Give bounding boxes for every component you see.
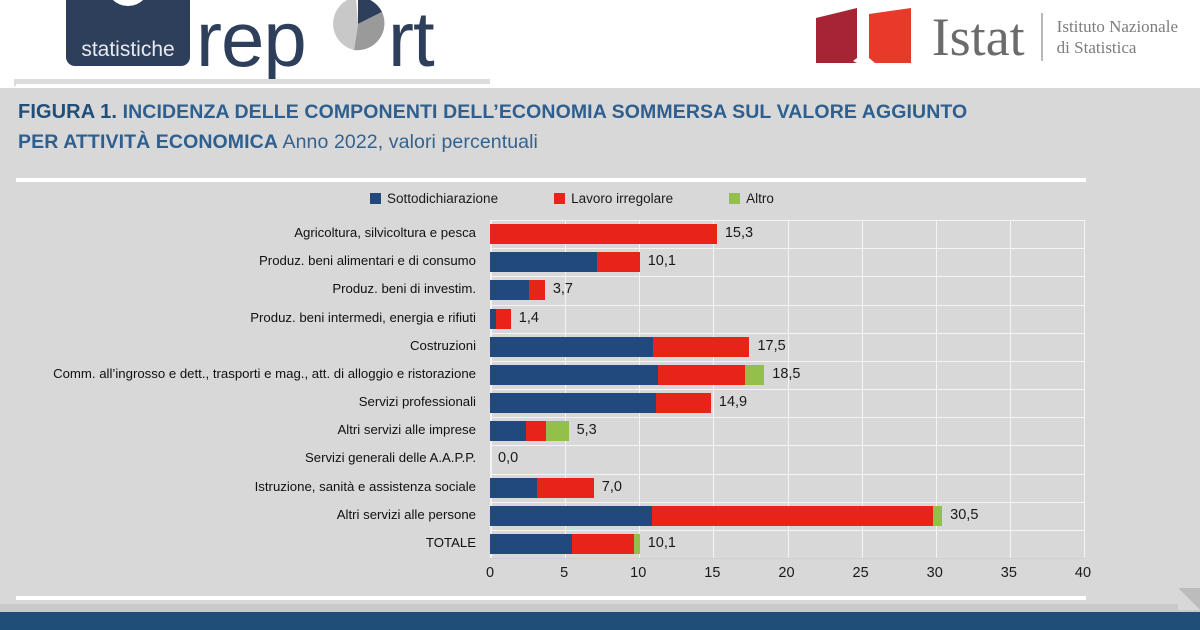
report-page: statistiche rep rt Istat [0, 0, 1200, 630]
x-tick-label: 30 [927, 565, 943, 581]
bar-segment[interactable] [490, 506, 652, 526]
bar-series-group: 15,310,13,71,417,518,514,95,30,07,030,51… [490, 220, 1200, 558]
category-label: Produz. beni di investim. [0, 281, 483, 296]
legend-label: Altro [746, 191, 774, 206]
footer-gap [0, 604, 1200, 612]
x-axis-ticks: 0510152025303540 [490, 559, 1090, 585]
x-tick-label: 5 [560, 565, 568, 581]
bar-value-label: 14,9 [719, 394, 747, 410]
bar-value-label: 1,4 [519, 310, 539, 326]
chart-legend: SottodichiarazioneLavoro irregolareAltro [370, 191, 774, 206]
istat-divider [1041, 13, 1043, 61]
bar-segment[interactable] [490, 280, 529, 300]
legend-item-0[interactable]: Sottodichiarazione [370, 191, 498, 206]
bar-segment[interactable] [597, 252, 640, 272]
category-label: Servizi professionali [0, 394, 483, 409]
bar-segment[interactable] [490, 337, 653, 357]
bar-value-label: 10,1 [648, 253, 676, 269]
bar-segment[interactable] [490, 534, 572, 554]
bar-segment[interactable] [490, 252, 597, 272]
x-tick-label: 35 [1001, 565, 1017, 581]
figure-title-line-2: PER ATTIVITÀ ECONOMICA Anno 2022, valori… [18, 131, 538, 154]
category-label: Altri servizi alle persone [0, 507, 483, 522]
logo-badge-label: statistiche [81, 38, 174, 61]
bar-segment[interactable] [652, 506, 934, 526]
report-logo-svg: statistiche rep rt [66, 0, 496, 80]
istat-subtitle-line1: Istituto Nazionale [1057, 16, 1178, 37]
x-tick-label: 10 [630, 565, 646, 581]
bar-segment[interactable] [490, 224, 717, 244]
bar-segment[interactable] [933, 506, 942, 526]
bar-segment[interactable] [658, 365, 745, 385]
bar-value-label: 3,7 [553, 281, 573, 297]
title-band [0, 88, 1200, 166]
logo-word-pre: rep [196, 0, 306, 80]
figure-title-caps-1: INCIDENZA DELLE COMPONENTI DELL’ECONOMIA… [123, 101, 968, 123]
x-tick-label: 25 [853, 565, 869, 581]
footer-band [0, 612, 1200, 630]
logo-word-post: rt [388, 0, 435, 80]
x-tick-label: 40 [1075, 565, 1091, 581]
chart-figure: SottodichiarazioneLavoro irregolareAltro… [0, 182, 1200, 594]
x-tick-label: 15 [704, 565, 720, 581]
istat-subtitle-line2: di Statistica [1057, 37, 1178, 58]
bar-value-label: 5,3 [577, 422, 597, 438]
bar-segment[interactable] [490, 393, 656, 413]
x-tick-label: 0 [486, 565, 494, 581]
masthead: statistiche rep rt Istat [0, 0, 1200, 88]
bar-segment[interactable] [490, 421, 526, 441]
figure-title-caps-2: PER ATTIVITÀ ECONOMICA [18, 131, 278, 153]
bar-value-label: 7,0 [602, 479, 622, 495]
legend-label: Sottodichiarazione [387, 191, 498, 206]
bar-segment[interactable] [490, 365, 658, 385]
legend-swatch-icon [554, 193, 565, 204]
legend-item-1[interactable]: Lavoro irregolare [554, 191, 673, 206]
bar-segment[interactable] [572, 534, 634, 554]
bar-segment[interactable] [490, 478, 537, 498]
figure-label: FIGURA 1. [18, 101, 117, 123]
bar-value-label: 18,5 [772, 366, 800, 382]
bar-segment[interactable] [745, 365, 764, 385]
legend-swatch-icon [729, 193, 740, 204]
istat-books-icon [813, 8, 921, 66]
category-label: Produz. beni intermedi, energia e rifiut… [0, 310, 483, 325]
bar-segment[interactable] [537, 478, 593, 498]
bar-value-label: 17,5 [757, 338, 785, 354]
bar-value-label: 10,1 [648, 535, 676, 551]
category-label: Costruzioni [0, 338, 483, 353]
page-corner-fold [1178, 588, 1200, 610]
footer-rule [16, 596, 1086, 600]
figure-title-line-1: FIGURA 1. INCIDENZA DELLE COMPONENTI DEL… [18, 101, 967, 124]
bar-segment[interactable] [496, 309, 511, 329]
category-label: TOTALE [0, 535, 483, 550]
pie-chart-icon [333, 0, 384, 50]
category-label: Altri servizi alle imprese [0, 422, 483, 437]
category-label: Produz. beni alimentari e di consumo [0, 253, 483, 268]
category-label: Istruzione, sanità e assistenza sociale [0, 479, 483, 494]
bar-value-label: 0,0 [498, 450, 518, 466]
legend-item-2[interactable]: Altro [729, 191, 774, 206]
legend-swatch-icon [370, 193, 381, 204]
bar-value-label: 15,3 [725, 225, 753, 241]
statistiche-report-logo: statistiche rep rt [66, 0, 496, 80]
x-tick-label: 20 [778, 565, 794, 581]
category-axis-labels: Agricoltura, silvicoltura e pescaProduz.… [0, 220, 483, 558]
category-label: Comm. all’ingrosso e dett., trasporti e … [0, 366, 483, 381]
istat-subtitle: Istituto Nazionale di Statistica [1057, 16, 1178, 58]
figure-subtitle: Anno 2022, valori percentuali [283, 131, 539, 153]
category-label: Servizi generali delle A.A.P.P. [0, 450, 483, 465]
bar-segment[interactable] [529, 280, 545, 300]
bar-segment[interactable] [653, 337, 749, 357]
legend-label: Lavoro irregolare [571, 191, 673, 206]
bar-segment[interactable] [634, 534, 640, 554]
bar-segment[interactable] [656, 393, 711, 413]
bar-segment[interactable] [526, 421, 547, 441]
bar-value-label: 30,5 [950, 507, 978, 523]
istat-wordmark: Istat [932, 10, 1025, 64]
bar-segment[interactable] [546, 421, 568, 441]
category-label: Agricoltura, silvicoltura e pesca [0, 225, 483, 240]
istat-logo: Istat Istituto Nazionale di Statistica [813, 8, 1178, 66]
